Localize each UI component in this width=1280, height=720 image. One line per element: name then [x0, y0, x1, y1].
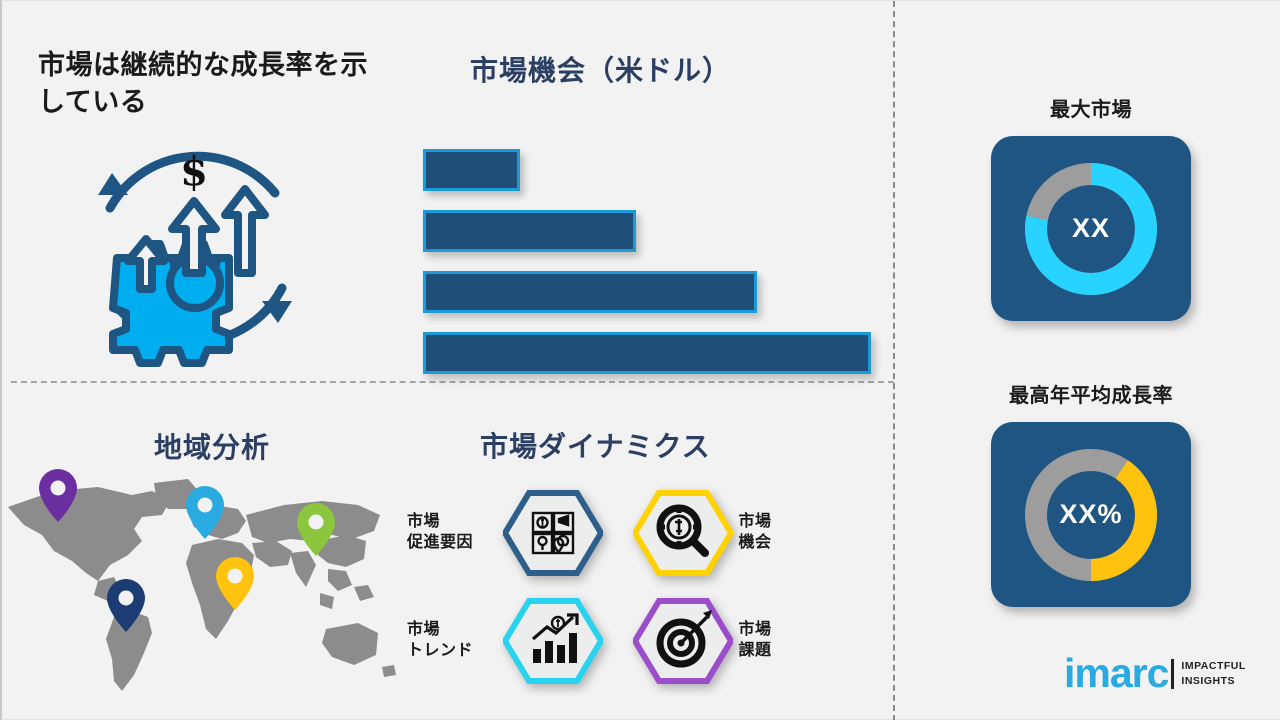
dynamics-label-challenges: 市場 課題: [739, 620, 815, 662]
world-map: [2, 469, 402, 704]
bar-2: [423, 210, 636, 252]
largest-market-card: XX: [991, 136, 1191, 321]
dynamics-item-challenges[interactable]: 市場 課題: [633, 591, 853, 691]
dynamics-label-drivers: 市場 促進要因: [407, 512, 503, 554]
logo-divider: [1171, 659, 1174, 689]
logo-tagline: IMPACTFUL INSIGHTS: [1181, 659, 1245, 687]
dollar-symbol: $: [180, 148, 208, 195]
imarc-logo[interactable]: imarc IMPACTFUL INSIGHTS: [1064, 653, 1246, 694]
highest-cagr-value: XX%: [1059, 499, 1122, 530]
growth-heading: 市場は継続的な成長率を示している: [38, 47, 388, 122]
bar-row: [423, 271, 883, 313]
hexagon-challenges: [633, 597, 733, 685]
growth-block: 市場は継続的な成長率を示している: [38, 47, 388, 122]
hexagon-opportunities: [633, 489, 733, 577]
dynamics-item-drivers[interactable]: 市場 促進要因: [407, 483, 627, 583]
dynamics-label-trends: 市場 トレンド: [407, 620, 503, 662]
dynamics-item-trends[interactable]: 市場 トレンド: [407, 591, 627, 691]
hexagon-drivers: [503, 489, 603, 577]
bar-chart-title: 市場機会（米ドル）: [470, 49, 731, 89]
dynamics-item-opportunities[interactable]: 市場 機会: [633, 483, 853, 583]
region-analysis-title: 地域分析: [154, 426, 270, 466]
bar-3: [423, 271, 757, 313]
bar-1: [423, 149, 520, 191]
market-dynamics-grid: 市場 促進要因: [407, 483, 852, 691]
market-dynamics-title: 市場ダイナミクス: [480, 425, 711, 465]
hexagon-trends: [503, 597, 603, 685]
dynamics-label-opportunities: 市場 機会: [739, 512, 815, 554]
bar-row: [423, 149, 883, 191]
highest-cagr-caption: 最高年平均成長率: [936, 379, 1246, 408]
bar-row: [423, 210, 883, 252]
slide-canvas: 市場は継続的な成長率を示している $ 市場機会（米ド: [0, 0, 1280, 720]
largest-market-caption: 最大市場: [936, 93, 1246, 122]
vertical-divider: [893, 1, 895, 720]
logo-wordmark: imarc: [1064, 653, 1168, 694]
largest-market-section: 最大市場 XX: [936, 93, 1246, 321]
largest-market-value: XX: [1072, 213, 1110, 244]
growth-cycle-gear-icon: $: [70, 133, 320, 368]
bar-row: [423, 332, 883, 374]
bar-4: [423, 332, 871, 374]
highest-cagr-card: XX%: [991, 422, 1191, 607]
bar-chart: [423, 149, 883, 393]
highest-cagr-section: 最高年平均成長率 XX%: [936, 379, 1246, 607]
